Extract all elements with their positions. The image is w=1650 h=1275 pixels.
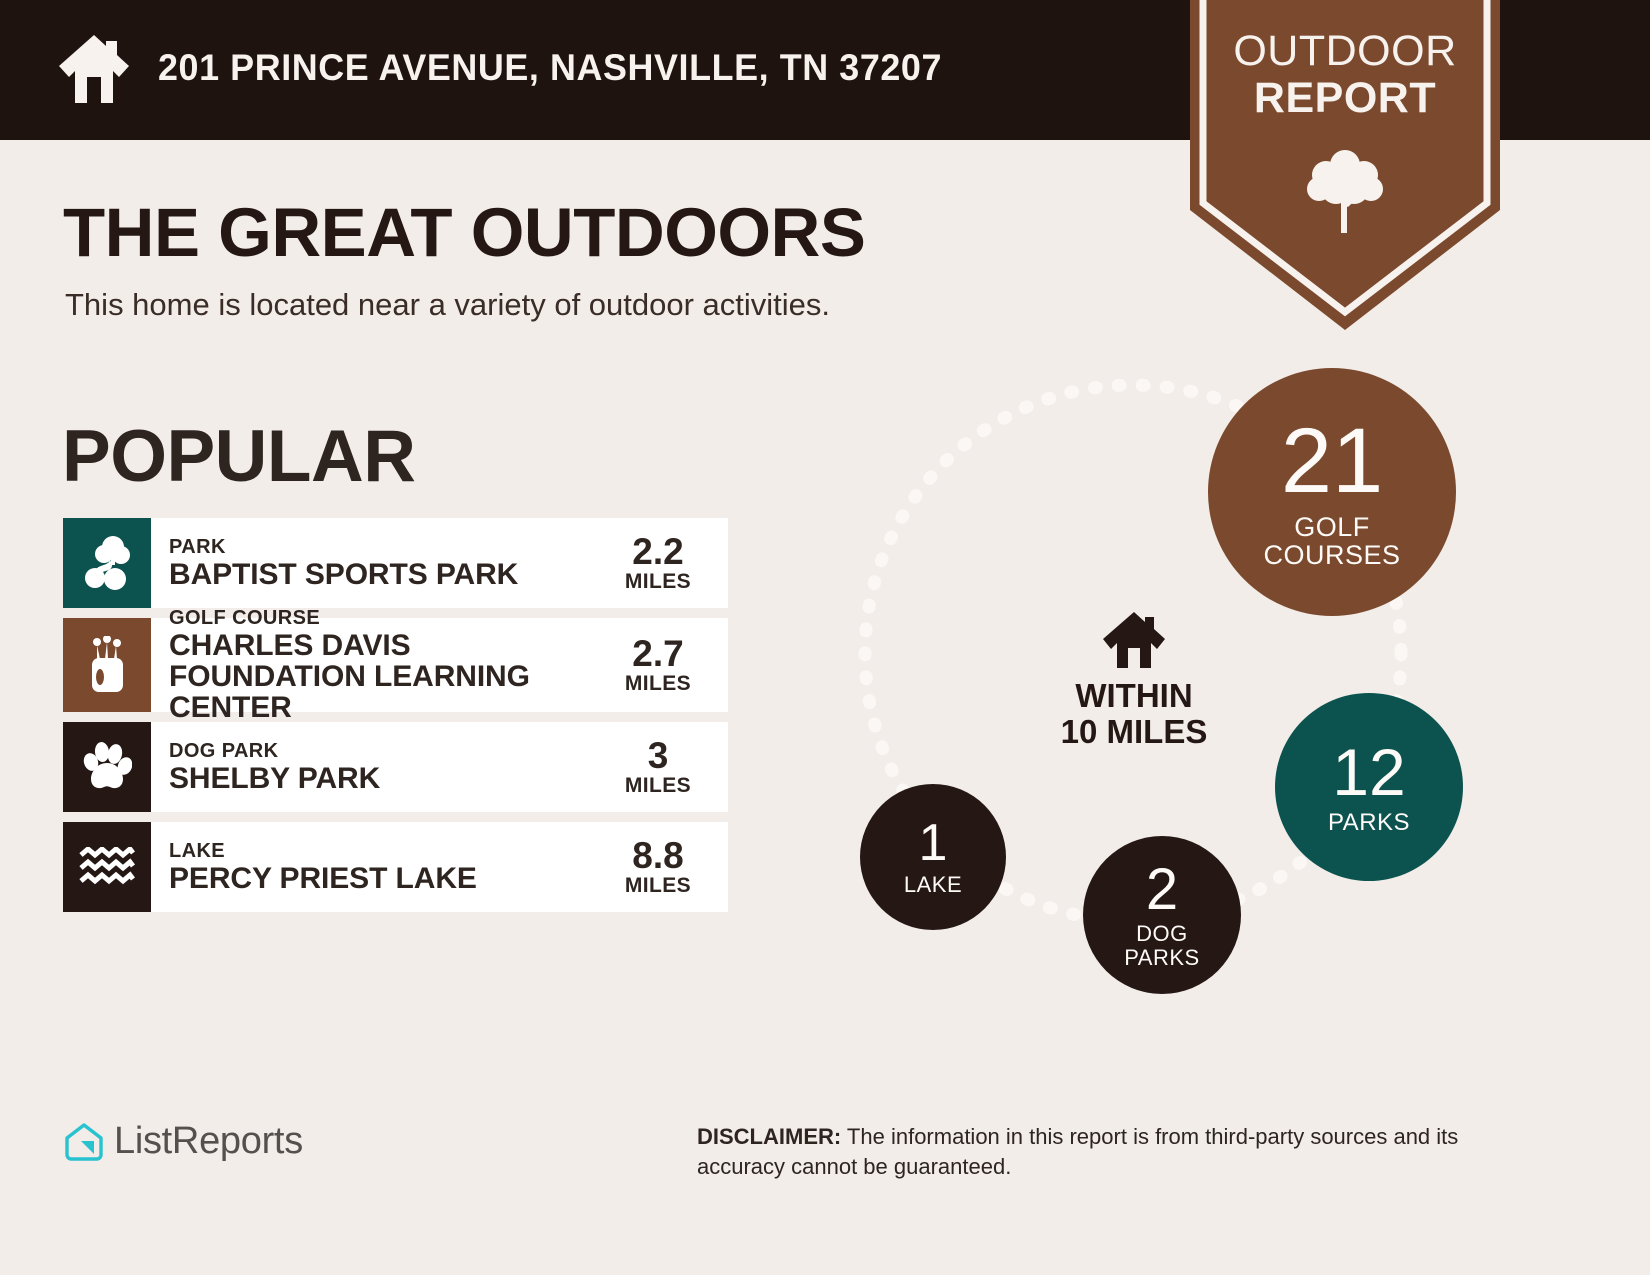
page-title: THE GREAT OUTDOORS	[63, 193, 865, 272]
property-address: 201 PRINCE AVENUE, NASHVILLE, TN 37207	[158, 47, 942, 89]
distance-value: 8.8	[632, 837, 683, 874]
radial-stats-graphic: 21 GOLF COURSES 12 PARKS 1 LAKE 2 DOG PA…	[800, 340, 1520, 1040]
disclaimer-label: DISCLAIMER:	[697, 1124, 841, 1149]
badge-title: OUTDOOR REPORT	[1190, 28, 1500, 122]
list-item-text: PARK BAPTIST SPORTS PARK	[151, 518, 602, 608]
radial-center-block: WITHIN 10 MILES	[1028, 610, 1240, 750]
stat-value: 1	[919, 817, 948, 869]
stat-label-line2: COURSES	[1263, 540, 1400, 570]
center-text-line2: 10 MILES	[1061, 713, 1208, 750]
center-text-line1: WITHIN	[1075, 677, 1192, 714]
home-icon	[57, 33, 131, 105]
tree-icon	[1306, 147, 1384, 233]
list-item-category: DOG PARK	[169, 740, 602, 763]
radial-center-text: WITHIN 10 MILES	[1028, 678, 1240, 750]
water-waves-icon	[79, 847, 135, 887]
page-subtitle: This home is located near a variety of o…	[65, 287, 830, 323]
list-item-icon-cell	[63, 618, 151, 712]
list-item-distance: 3 MILES	[602, 722, 728, 812]
distance-value: 2.7	[632, 635, 683, 672]
outdoor-report-badge: OUTDOOR REPORT	[1190, 0, 1500, 330]
list-item[interactable]: LAKE PERCY PRIEST LAKE 8.8 MILES	[63, 822, 728, 912]
stat-label-line1: GOLF	[1294, 512, 1370, 542]
distance-unit: MILES	[625, 774, 691, 798]
listreports-logo-text: ListReports	[114, 1120, 303, 1163]
distance-unit: MILES	[625, 874, 691, 898]
stat-label-line2: PARKS	[1124, 945, 1199, 970]
listreports-house-icon	[63, 1121, 105, 1163]
list-item-name: CHARLES DAVIS FOUNDATION LEARNING CENTER	[169, 630, 569, 723]
list-item[interactable]: PARK BAPTIST SPORTS PARK 2.2 MILES	[63, 518, 728, 608]
list-item-text: DOG PARK SHELBY PARK	[151, 722, 602, 812]
badge-title-line2: REPORT	[1190, 75, 1500, 122]
list-item-name: BAPTIST SPORTS PARK	[169, 559, 602, 590]
stat-circle-golf-courses: 21 GOLF COURSES	[1208, 368, 1456, 616]
list-item[interactable]: GOLF COURSE CHARLES DAVIS FOUNDATION LEA…	[63, 618, 728, 712]
list-item-text: GOLF COURSE CHARLES DAVIS FOUNDATION LEA…	[151, 618, 602, 712]
list-item-name: SHELBY PARK	[169, 763, 602, 794]
distance-unit: MILES	[625, 570, 691, 594]
popular-list: PARK BAPTIST SPORTS PARK 2.2 MILES	[63, 518, 728, 922]
park-trees-icon	[82, 535, 132, 591]
badge-title-line1: OUTDOOR	[1190, 28, 1500, 75]
list-item-category: LAKE	[169, 840, 602, 863]
distance-unit: MILES	[625, 672, 691, 696]
list-item-icon-cell	[63, 518, 151, 608]
stat-label-line1: DOG	[1136, 921, 1188, 946]
stat-value: 12	[1332, 739, 1405, 805]
stat-label: GOLF COURSES	[1263, 513, 1400, 570]
stat-circle-parks: 12 PARKS	[1275, 693, 1463, 881]
stat-label: LAKE	[904, 873, 962, 896]
distance-value: 3	[648, 737, 669, 774]
golf-bag-icon	[86, 636, 128, 694]
stat-value: 21	[1281, 415, 1383, 507]
list-item-distance: 2.2 MILES	[602, 518, 728, 608]
stat-value: 2	[1146, 861, 1178, 919]
list-item-icon-cell	[63, 722, 151, 812]
stat-label: DOG PARKS	[1124, 922, 1199, 968]
section-title-popular: POPULAR	[62, 415, 415, 498]
list-item-distance: 8.8 MILES	[602, 822, 728, 912]
list-item-icon-cell	[63, 822, 151, 912]
list-item-distance: 2.7 MILES	[602, 618, 728, 712]
disclaimer: DISCLAIMER: The information in this repo…	[697, 1122, 1507, 1182]
list-item-category: GOLF COURSE	[169, 607, 602, 630]
list-item-category: PARK	[169, 536, 602, 559]
stat-circle-lake: 1 LAKE	[860, 784, 1006, 930]
distance-value: 2.2	[632, 533, 683, 570]
stat-circle-dog-parks: 2 DOG PARKS	[1083, 836, 1241, 994]
list-item-name: PERCY PRIEST LAKE	[169, 863, 602, 894]
listreports-logo[interactable]: ListReports	[63, 1120, 303, 1163]
stat-label: PARKS	[1328, 810, 1410, 835]
list-item[interactable]: DOG PARK SHELBY PARK 3 MILES	[63, 722, 728, 812]
list-item-text: LAKE PERCY PRIEST LAKE	[151, 822, 602, 912]
home-icon	[1101, 610, 1167, 672]
paw-print-icon	[82, 741, 132, 793]
